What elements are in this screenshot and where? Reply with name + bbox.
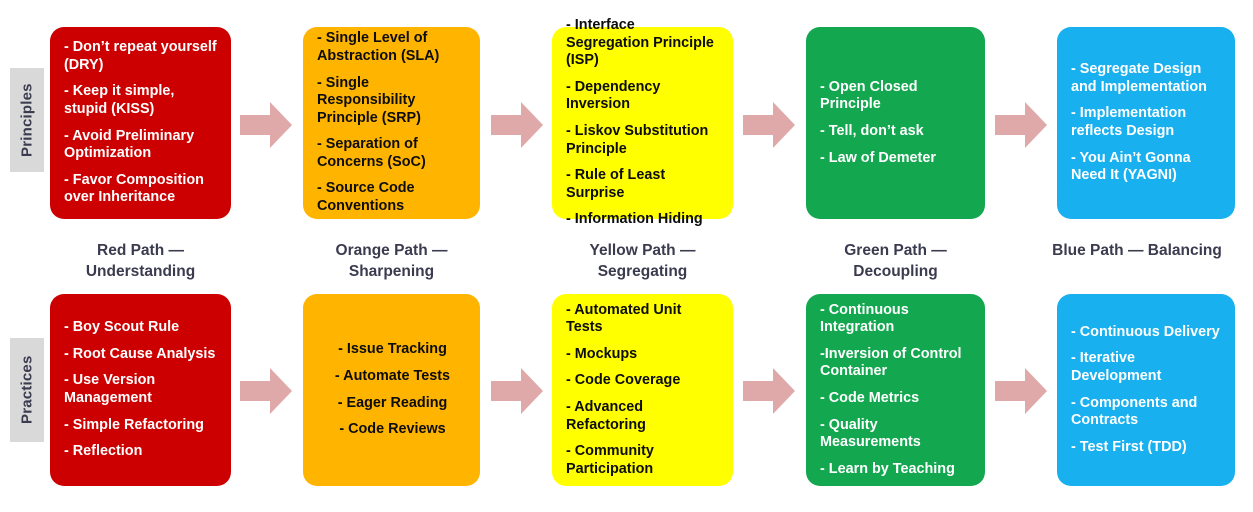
arrow-red-to-orange-principles xyxy=(240,102,292,148)
practices-box-blue[interactable]: - Continuous Delivery- Iterative Develop… xyxy=(1057,294,1235,486)
practice-blue-item: - Components and Contracts xyxy=(1071,395,1223,430)
arrow-green-to-blue-principles xyxy=(995,102,1047,148)
principle-orange-item: - Separation of Concerns (SoC) xyxy=(317,136,468,171)
practice-red-item: - Use Version Management xyxy=(64,372,219,407)
caption-green-path: Green Path — Decoupling xyxy=(806,241,985,283)
caption-red-path: Red Path — Understanding xyxy=(50,241,231,283)
practice-blue-item: - Iterative Development xyxy=(1071,350,1223,385)
caption-yellow-line2: Segregating xyxy=(552,262,733,283)
caption-blue-line1: Blue Path — Balancing xyxy=(1022,241,1252,262)
caption-green-line1: Green Path — xyxy=(806,241,985,262)
caption-yellow-path: Yellow Path — Segregating xyxy=(552,241,733,283)
arrow-yellow-to-green-practices xyxy=(743,368,795,414)
principle-yellow-item: - Liskov Substitution Principle xyxy=(566,123,721,158)
principles-box-yellow[interactable]: - Interface Segregation Principle (ISP)-… xyxy=(552,27,733,219)
practice-yellow-item: - Automated Unit Tests xyxy=(566,302,721,337)
diagram-canvas: Principles Practices - Don’t repeat your… xyxy=(0,0,1253,512)
practice-orange-item: - Eager Reading xyxy=(317,395,468,413)
practice-red-item: - Reflection xyxy=(64,443,219,461)
practice-yellow-item: - Mockups xyxy=(566,346,721,364)
practice-green-item: -Inversion of Control Container xyxy=(820,346,973,381)
principle-red-item: - Avoid Preliminary Optimization xyxy=(64,128,219,163)
principle-yellow-item: - Dependency Inversion xyxy=(566,79,721,114)
principle-green-item: - Tell, don’t ask xyxy=(820,123,973,141)
practice-green-item: - Learn by Teaching xyxy=(820,461,973,479)
arrow-red-to-orange-practices xyxy=(240,368,292,414)
practice-red-item: - Boy Scout Rule xyxy=(64,319,219,337)
practices-box-green[interactable]: - Continuous Integration-Inversion of Co… xyxy=(806,294,985,486)
principle-green-item: - Open Closed Principle xyxy=(820,79,973,114)
principles-box-green[interactable]: - Open Closed Principle- Tell, don’t ask… xyxy=(806,27,985,219)
practices-box-red[interactable]: - Boy Scout Rule- Root Cause Analysis- U… xyxy=(50,294,231,486)
practices-box-orange[interactable]: - Issue Tracking- Automate Tests- Eager … xyxy=(303,294,480,486)
principle-orange-item: - Single Responsibility Principle (SRP) xyxy=(317,75,468,128)
principle-yellow-item: - Interface Segregation Principle (ISP) xyxy=(566,17,721,70)
arrow-yellow-to-green-principles xyxy=(743,102,795,148)
caption-blue-path: Blue Path — Balancing xyxy=(1022,241,1252,262)
practice-yellow-item: - Advanced Refactoring xyxy=(566,399,721,434)
principles-box-orange[interactable]: - Single Level of Abstraction (SLA)- Sin… xyxy=(303,27,480,219)
principle-blue-item: - Segregate Design and Implementation xyxy=(1071,61,1223,96)
practice-blue-item: - Test First (TDD) xyxy=(1071,439,1223,457)
principle-red-item: - Keep it simple, stupid (KISS) xyxy=(64,83,219,118)
caption-orange-path: Orange Path — Sharpening xyxy=(303,241,480,283)
practice-red-item: - Root Cause Analysis xyxy=(64,346,219,364)
principle-orange-item: - Single Level of Abstraction (SLA) xyxy=(317,30,468,65)
practice-green-item: - Code Metrics xyxy=(820,390,973,408)
practice-orange-item: - Code Reviews xyxy=(317,421,468,439)
practice-orange-item: - Automate Tests xyxy=(317,368,468,386)
caption-red-line2: Understanding xyxy=(50,262,231,283)
principle-blue-item: - Implementation reflects Design xyxy=(1071,105,1223,140)
practice-orange-item: - Issue Tracking xyxy=(317,341,468,359)
principle-green-item: - Law of Demeter xyxy=(820,150,973,168)
caption-orange-line2: Sharpening xyxy=(303,262,480,283)
principles-box-red[interactable]: - Don’t repeat yourself (DRY)- Keep it s… xyxy=(50,27,231,219)
arrow-orange-to-yellow-practices xyxy=(491,368,543,414)
caption-green-line2: Decoupling xyxy=(806,262,985,283)
practice-blue-item: - Continuous Delivery xyxy=(1071,324,1223,342)
principle-orange-item: - Source Code Conventions xyxy=(317,180,468,215)
caption-red-line1: Red Path — xyxy=(50,241,231,262)
practice-green-item: - Continuous Integration xyxy=(820,302,973,337)
caption-orange-line1: Orange Path — xyxy=(303,241,480,262)
arrow-green-to-blue-practices xyxy=(995,368,1047,414)
practice-yellow-item: - Code Coverage xyxy=(566,372,721,390)
row-label-practices: Practices xyxy=(10,338,44,442)
arrow-orange-to-yellow-principles xyxy=(491,102,543,148)
principle-red-item: - Don’t repeat yourself (DRY) xyxy=(64,39,219,74)
practice-yellow-item: - Community Participation xyxy=(566,443,721,478)
practice-red-item: - Simple Refactoring xyxy=(64,417,219,435)
practice-green-item: - Quality Measurements xyxy=(820,417,973,452)
principle-yellow-item: - Information Hiding xyxy=(566,211,721,229)
principle-blue-item: - You Ain’t Gonna Need It (YAGNI) xyxy=(1071,150,1223,185)
practices-box-yellow[interactable]: - Automated Unit Tests- Mockups- Code Co… xyxy=(552,294,733,486)
row-label-principles: Principles xyxy=(10,68,44,172)
principle-red-item: - Favor Composition over Inheritance xyxy=(64,172,219,207)
principle-yellow-item: - Rule of Least Surprise xyxy=(566,167,721,202)
caption-yellow-line1: Yellow Path — xyxy=(552,241,733,262)
principles-box-blue[interactable]: - Segregate Design and Implementation- I… xyxy=(1057,27,1235,219)
